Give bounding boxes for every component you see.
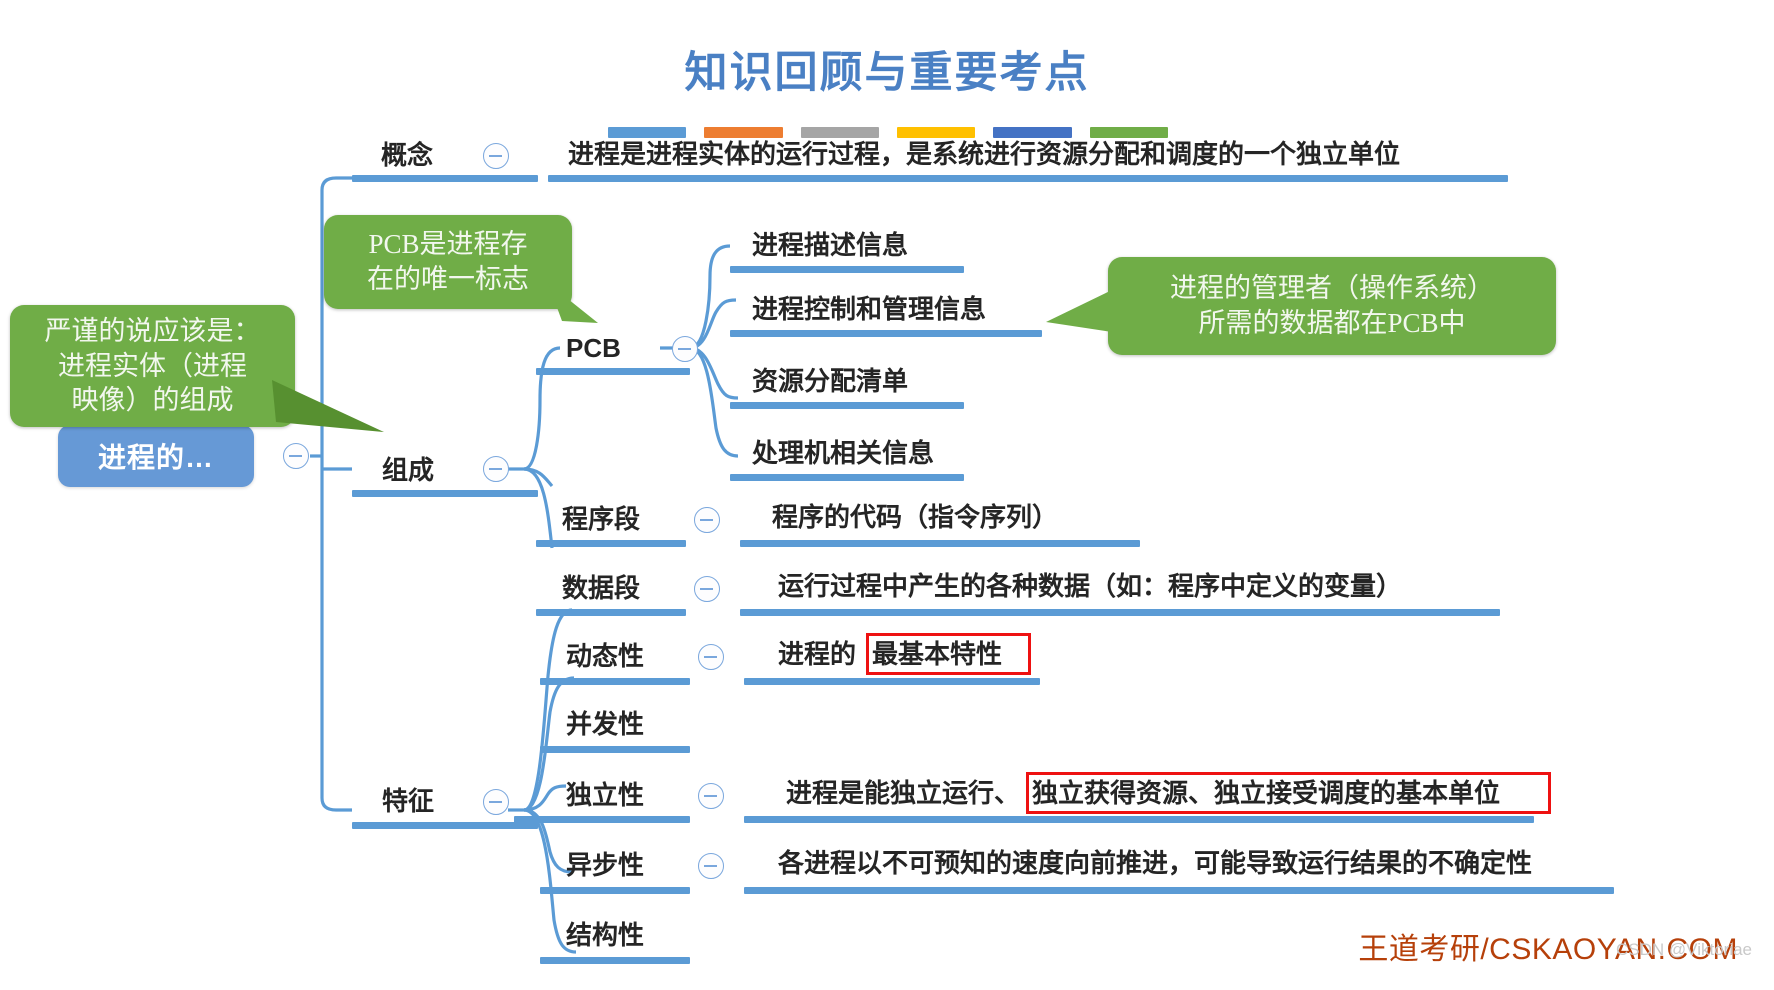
title-accent-bars [608,127,1168,138]
data-segment-detail-underline [740,609,1500,616]
node-concurrency-underline [540,746,690,753]
root-collapse-toggle[interactable] [283,443,309,469]
branch-features-label[interactable]: 特征 [382,788,434,814]
asynchrony-detail-underline [744,887,1614,894]
callout-process-entity-tail [272,370,400,440]
node-dynamic-label[interactable]: 动态性 [566,643,644,669]
dynamic-detail-plain[interactable]: 进程的 [778,641,856,667]
csdn-watermark: CSDN @Viktoriae [1616,940,1752,960]
branch-concept-collapse[interactable] [483,143,509,169]
callout-pcb-unique-tail [548,275,628,345]
callout-os-manager-tail [1046,290,1126,350]
mindmap-canvas: 知识回顾与重要考点 [0,0,1774,990]
node-code-segment-label[interactable]: 程序段 [562,506,640,532]
callout-os-manager[interactable]: 进程的管理者（操作系统） 所需的数据都在PCB中 [1108,257,1556,355]
root-node[interactable]: 进程的… [58,425,254,487]
node-dynamic-collapse[interactable] [698,644,724,670]
branch-composition-underline [352,490,538,497]
node-asynchrony-collapse[interactable] [698,853,724,879]
pcb-child-4-label[interactable]: 处理机相关信息 [752,440,934,466]
node-data-segment-underline [536,609,686,616]
node-data-segment-label[interactable]: 数据段 [562,575,640,601]
node-code-segment-collapse[interactable] [694,507,720,533]
branch-features-underline [352,822,538,829]
node-pcb-underline [536,368,690,375]
data-segment-detail[interactable]: 运行过程中产生的各种数据（如：程序中定义的变量） [778,573,1402,599]
node-independence-underline [514,816,690,823]
node-concurrency-label[interactable]: 并发性 [566,711,644,737]
title-bar-6 [1090,127,1168,138]
callout-pcb-unique[interactable]: PCB是进程存 在的唯一标志 [324,215,572,309]
title-bar-5 [993,127,1071,138]
branch-composition-label[interactable]: 组成 [382,457,434,483]
independence-detail-underline [744,816,1534,823]
pcb-child-2-underline [730,330,1042,337]
title-bar-3 [801,127,879,138]
pcb-child-3-underline [730,402,964,409]
asynchrony-detail[interactable]: 各进程以不可预知的速度向前推进，可能导致运行结果的不确定性 [778,850,1532,876]
title-bar-2 [704,127,782,138]
branch-concept-label[interactable]: 概念 [381,142,433,168]
title-bar-4 [897,127,975,138]
independence-detail-plain[interactable]: 进程是能独立运行、 [786,780,1020,806]
title-bar-1 [608,127,686,138]
node-code-segment-underline [536,540,686,547]
node-data-segment-collapse[interactable] [694,576,720,602]
dynamic-detail-underline [744,678,1040,685]
pcb-child-3-label[interactable]: 资源分配清单 [752,368,908,394]
dynamic-highlight-box [866,633,1031,675]
node-structure-label[interactable]: 结构性 [566,922,644,948]
node-pcb-collapse[interactable] [672,336,698,362]
pcb-child-1-label[interactable]: 进程描述信息 [752,232,908,258]
independence-highlight-box [1026,772,1551,814]
concept-detail-underline [548,175,1508,182]
node-asynchrony-underline [540,887,690,894]
branch-concept-underline [352,175,538,182]
branch-features-collapse[interactable] [483,789,509,815]
node-independence-label[interactable]: 独立性 [566,782,644,808]
pcb-child-1-underline [730,266,964,273]
node-asynchrony-label[interactable]: 异步性 [566,852,644,878]
branch-composition-collapse[interactable] [483,456,509,482]
node-structure-underline [540,957,690,964]
pcb-child-2-label[interactable]: 进程控制和管理信息 [752,296,986,322]
concept-detail-text[interactable]: 进程是进程实体的运行过程，是系统进行资源分配和调度的一个独立单位 [568,141,1400,167]
page-title: 知识回顾与重要考点 [0,38,1774,100]
callout-process-entity[interactable]: 严谨的说应该是： 进程实体（进程 映像）的组成 [10,305,295,427]
code-segment-detail-underline [740,540,1140,547]
pcb-child-4-underline [730,474,964,481]
node-dynamic-underline [540,678,690,685]
code-segment-detail[interactable]: 程序的代码（指令序列） [772,504,1058,530]
node-independence-collapse[interactable] [698,783,724,809]
